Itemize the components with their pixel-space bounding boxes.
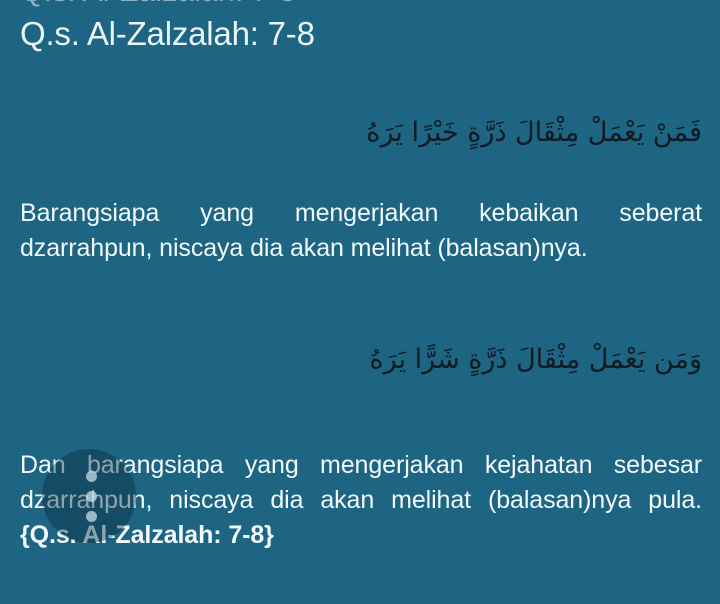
translation-verse-8: Dan barangsiapa yang mengerjakan kejahat…: [20, 448, 702, 553]
source-citation: {Q.s. Al-Zalzalah: 7-8}: [20, 521, 274, 549]
arabic-verse-8: وَمَن يَعْمَلْ مِثْقَالَ ذَرَّةٍ شَرًّا …: [20, 338, 702, 382]
verse-card: Q.s. Al-Zalzalah: 7-8 Q.s. Al-Zalzalah: …: [0, 0, 720, 604]
translation-verse-7: Barangsiapa yang mengerjakan kebaikan se…: [20, 196, 702, 266]
translation-verse-8-body: Dan barangsiapa yang mengerjakan kejahat…: [20, 451, 702, 514]
arabic-verse-7: فَمَنْ يَعْمَلْ مِثْقَالَ ذَرَّةٍ خَيْرً…: [20, 111, 702, 155]
page-title: Q.s. Al-Zalzalah: 7-8: [20, 0, 702, 55]
translation-verse-7-body: Barangsiapa yang mengerjakan kebaikan se…: [20, 199, 702, 262]
content-column: Q.s. Al-Zalzalah: 7-8 فَمَنْ يَعْمَلْ مِ…: [20, 0, 702, 604]
